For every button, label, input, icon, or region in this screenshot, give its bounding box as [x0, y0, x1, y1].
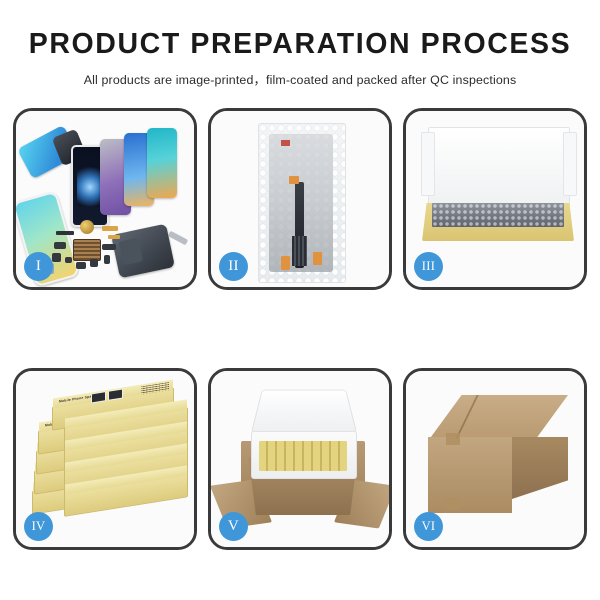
page-subtitle: All products are image-printed，film-coat…: [0, 70, 600, 88]
orange-tape-3: [313, 252, 322, 265]
step-card-1: I: [13, 108, 197, 290]
step-card-5: V: [208, 368, 392, 550]
phone-screen-teal: [17, 125, 79, 179]
carton-tape-top: [446, 433, 460, 445]
step-badge-1: I: [24, 252, 53, 281]
page-title: PRODUCT PREPARATION PROCESS: [0, 30, 600, 60]
kraft-box-stack: Mobile Phone Spare Parts Mobile Phone Sp…: [30, 395, 188, 529]
process-step-5: V: [208, 368, 392, 472]
process-step-2: II: [208, 108, 392, 290]
flex-cable-part-2: [108, 235, 120, 239]
carton-tape-bottom: [446, 497, 460, 509]
component-grid-part: [73, 239, 101, 261]
step-card-3: III: [403, 108, 587, 290]
step-card-2: II: [208, 108, 392, 290]
kraft-box-lid: [428, 127, 570, 207]
battery-part: [56, 231, 74, 235]
small-part-6: [104, 255, 110, 264]
box-label-phone-image-1: [91, 391, 106, 403]
step-card-6: VI: [403, 368, 587, 550]
styrofoam-lid: [251, 390, 357, 434]
tool-part: [168, 231, 188, 246]
orange-tape-2: [281, 256, 290, 270]
process-step-1: I: [13, 108, 197, 290]
orange-tape-1: [289, 176, 299, 184]
process-step-3: III: [403, 108, 587, 290]
step-badge-3: III: [414, 252, 443, 281]
small-part-3: [76, 262, 86, 269]
screen-flex-cable: [295, 182, 304, 268]
qc-red-mark: [281, 140, 290, 146]
step-badge-6: VI: [414, 512, 443, 541]
small-part-1: [52, 253, 61, 262]
sealed-carton-side: [512, 437, 568, 499]
step-card-4: Mobile Phone Spare Parts Mobile Phone Sp…: [13, 368, 197, 550]
process-step-4: Mobile Phone Spare Parts Mobile Phone Sp…: [13, 368, 197, 472]
step-badge-4: IV: [24, 512, 53, 541]
product-preparation-infographic: PRODUCT PREPARATION PROCESS All products…: [0, 0, 600, 600]
process-step-grid: I II: [13, 108, 587, 472]
step-badge-2: II: [219, 252, 248, 281]
phone-back-housing: [111, 224, 175, 279]
flex-cable-part-1: [102, 226, 118, 231]
speaker-coil-part: [80, 220, 94, 234]
small-part-2: [65, 257, 72, 263]
step-badge-5: V: [219, 512, 248, 541]
header: PRODUCT PREPARATION PROCESS All products…: [0, 0, 600, 88]
bubble-wrap-bag: [258, 123, 346, 283]
yellow-boxes-inside: [259, 441, 347, 471]
box-label-phone-image-2: [108, 388, 123, 400]
phone-screen-gradient: [147, 128, 177, 198]
process-step-6: VI: [403, 368, 587, 472]
small-part-4: [90, 259, 98, 267]
sealed-carton-front: [428, 437, 512, 513]
grey-foam-padding: [432, 203, 564, 227]
small-part-5: [102, 244, 116, 250]
camera-module-part: [54, 242, 66, 249]
